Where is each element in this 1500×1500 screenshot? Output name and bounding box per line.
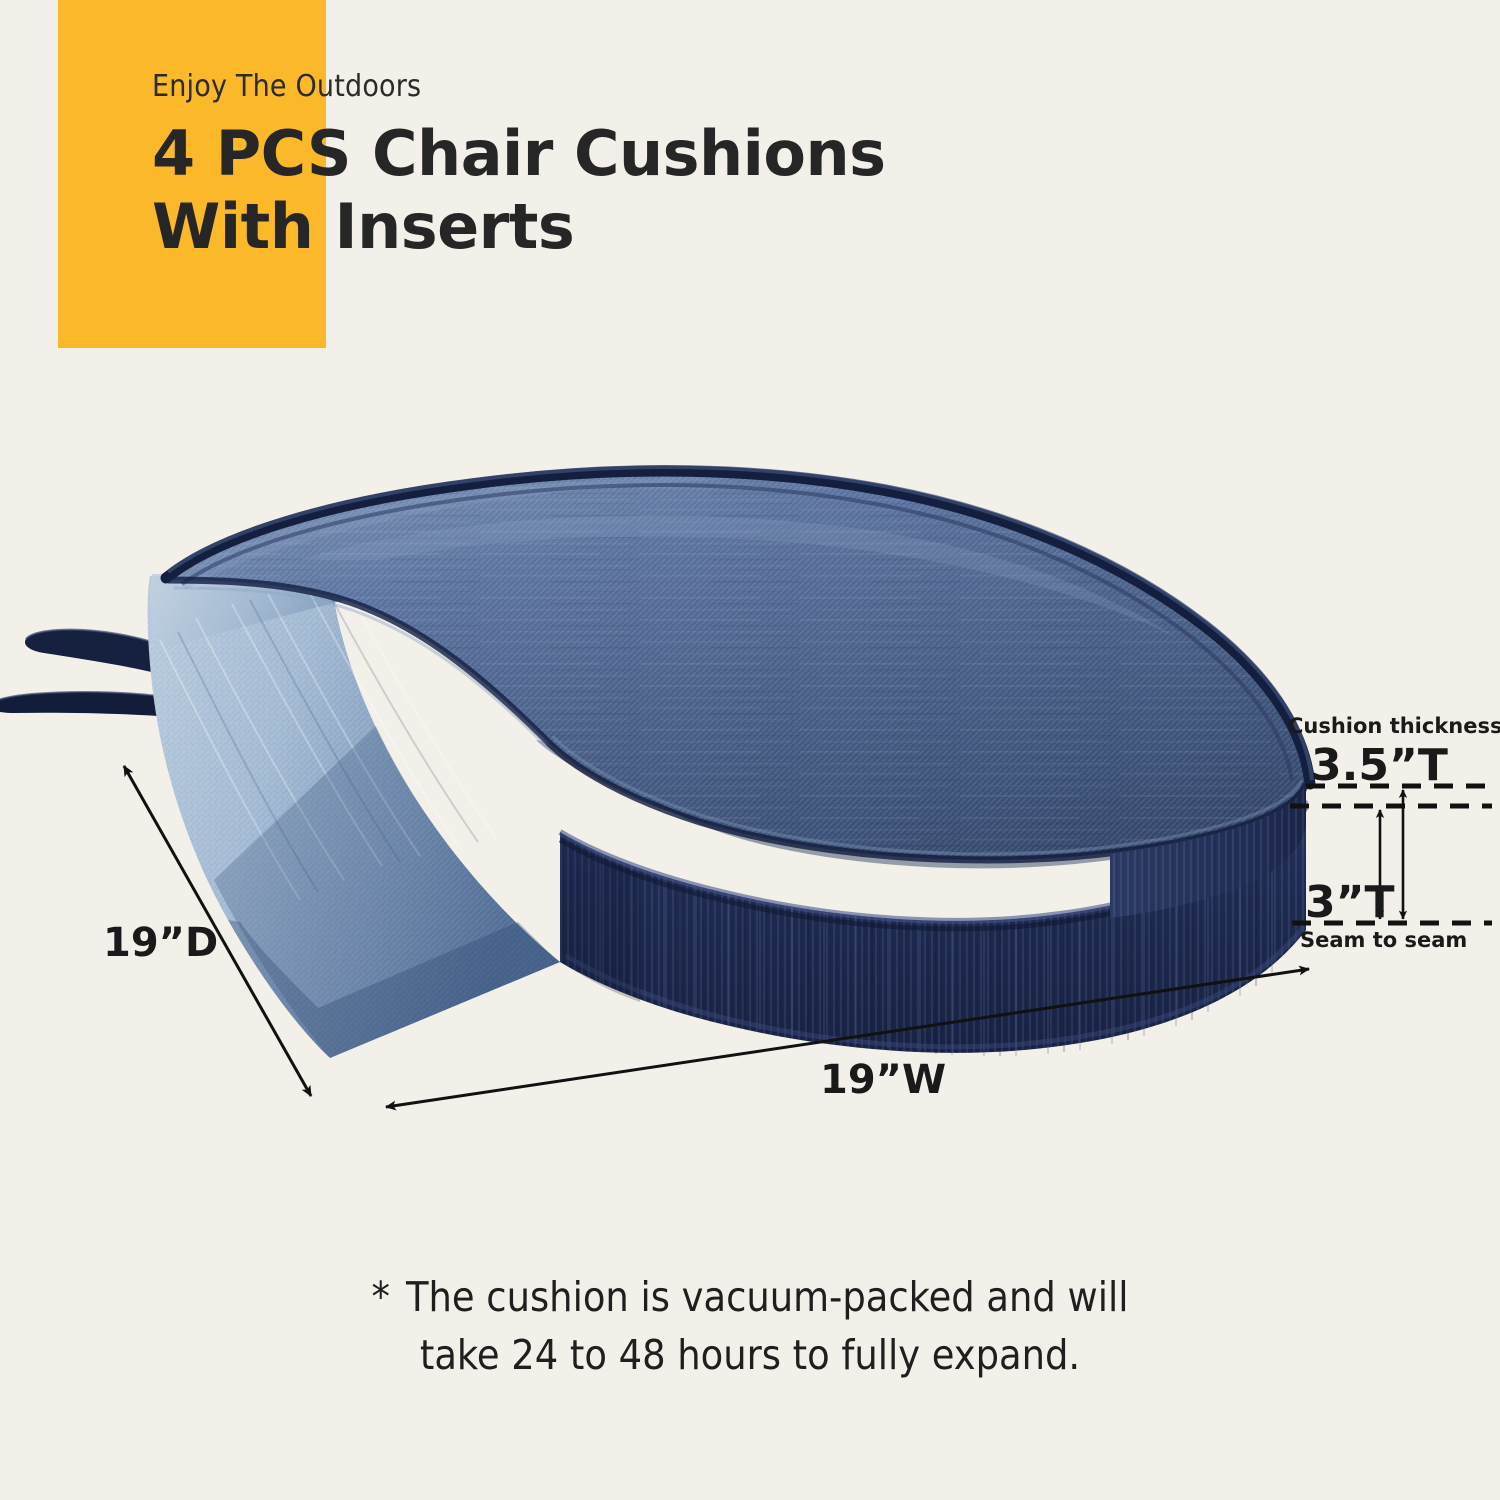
footnote-marker: * bbox=[372, 1273, 406, 1321]
footnote-line-2: take 24 to 48 hours to fully expand. bbox=[0, 1326, 1500, 1384]
cushion-thickness-caption: Cushion thickness bbox=[1288, 714, 1500, 738]
cushion-right-face bbox=[1110, 784, 1306, 918]
seam-to-seam-caption: Seam to seam bbox=[1300, 928, 1467, 952]
depth-label: 19”D bbox=[103, 920, 218, 966]
width-label: 19”W bbox=[820, 1057, 946, 1103]
headline-line-1: 4 PCS Chair Cushions bbox=[152, 117, 886, 190]
footnote-line-1: The cushion is vacuum-packed and will bbox=[406, 1273, 1128, 1321]
page-title: 4 PCS Chair Cushions With Inserts bbox=[152, 117, 1152, 263]
footnote: *The cushion is vacuum-packed and will t… bbox=[0, 1268, 1500, 1384]
eyebrow-text: Enjoy The Outdoors bbox=[152, 70, 1152, 103]
header: Enjoy The Outdoors 4 PCS Chair Cushions … bbox=[152, 70, 1152, 263]
seam-thickness-value: 3”T bbox=[1305, 877, 1395, 928]
tie-strap bbox=[0, 630, 186, 718]
cushion-left-face bbox=[148, 572, 560, 1058]
headline-line-2: With Inserts bbox=[152, 190, 1152, 263]
cushion-front-face bbox=[560, 800, 1306, 1056]
cushion-top-face bbox=[166, 467, 1312, 868]
cushion-thickness-value: 3.5”T bbox=[1311, 740, 1448, 791]
product-infographic: Enjoy The Outdoors 4 PCS Chair Cushions … bbox=[0, 0, 1500, 1500]
